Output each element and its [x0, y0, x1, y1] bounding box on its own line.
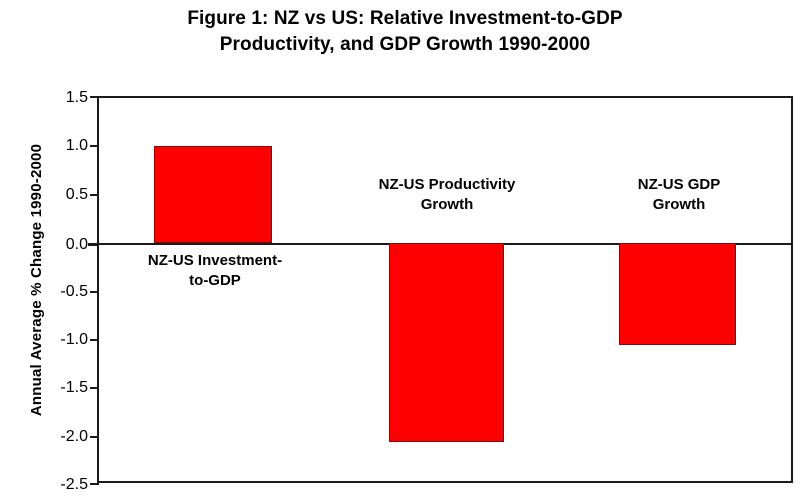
y-tick-mark	[90, 96, 99, 98]
figure-container: Figure 1: NZ vs US: Relative Investment-…	[0, 0, 800, 500]
y-tick-mark	[90, 291, 99, 293]
bar-label-investment-to-gdp: NZ-US Investment- to-GDP	[105, 251, 325, 291]
y-tick-label: 1.5	[66, 89, 88, 107]
y-tick-mark	[90, 387, 99, 389]
y-tick-mark	[90, 436, 99, 438]
y-tick-label: 0.0	[66, 236, 88, 254]
chart-title: Figure 1: NZ vs US: Relative Investment-…	[60, 6, 750, 58]
y-tick-label: 1.0	[66, 137, 88, 155]
plot-area: 1.5 1.0 0.5 0.0 -0.5 -1.0 -1.5 -	[97, 96, 793, 483]
y-tick-label: -1.0	[60, 331, 88, 349]
bar-label-productivity-growth: NZ-US Productivity Growth	[331, 175, 563, 215]
y-tick-mark	[90, 339, 99, 341]
bar-productivity-growth[interactable]	[389, 243, 504, 441]
y-tick-label: -2.5	[60, 476, 88, 494]
y-tick-mark	[90, 483, 99, 485]
y-tick-mark	[90, 145, 99, 147]
bar-gdp-growth[interactable]	[619, 243, 736, 345]
bar-investment-to-gdp[interactable]	[154, 146, 272, 243]
y-tick-mark	[88, 243, 99, 246]
bar-label-gdp-growth: NZ-US GDP Growth	[589, 175, 769, 215]
y-tick-label: -0.5	[60, 283, 88, 301]
y-axis-title: Annual Average % Change 1990-2000	[28, 70, 45, 490]
y-tick-label: -1.5	[60, 379, 88, 397]
y-tick-label: 0.5	[66, 186, 88, 204]
y-tick-label: -2.0	[60, 428, 88, 446]
y-tick-mark	[90, 194, 99, 196]
